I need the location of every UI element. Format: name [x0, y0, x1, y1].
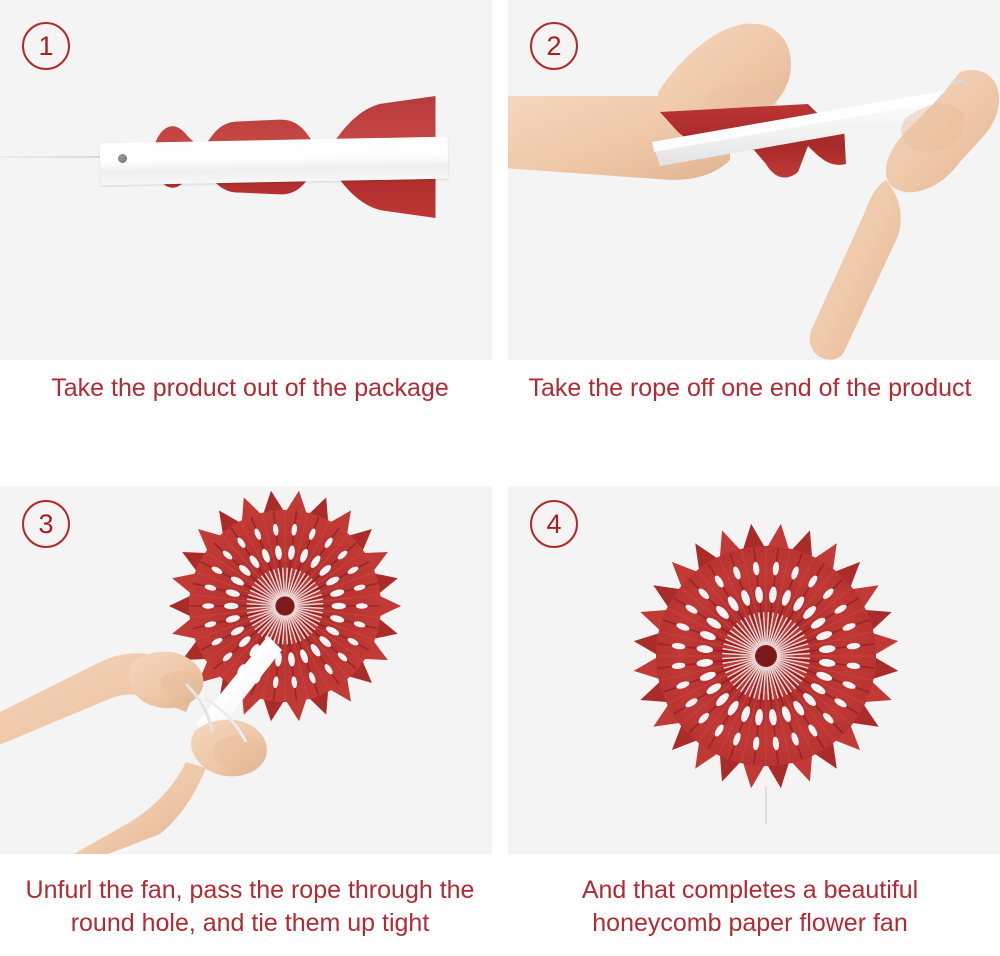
step-3-photo: [0, 486, 492, 854]
caption-line: round hole, and tie them up tight: [14, 907, 486, 940]
step-caption-4: And that completes a beautiful honeycomb…: [500, 874, 1000, 940]
step-caption-1: Take the product out of the package: [0, 372, 500, 405]
step-panel-2: 2 Take the rope off one end of the produ…: [500, 0, 1000, 478]
hands-removing-rope-illustration: [508, 0, 1000, 360]
step-4-photo: [508, 486, 1000, 854]
instruction-grid: 1 Take the product out of the package: [0, 0, 1000, 956]
caption-line: Unfurl the fan, pass the rope through th…: [14, 874, 486, 907]
step-caption-3: Unfurl the fan, pass the rope through th…: [0, 874, 500, 940]
caption-line: Take the product out of the package: [14, 372, 486, 405]
caption-line: honeycomb paper flower fan: [514, 907, 986, 940]
step-panel-1: 1 Take the product out of the package: [0, 0, 500, 478]
right-forearm: [74, 762, 206, 854]
caption-line: Take the rope off one end of the product: [514, 372, 986, 405]
step-panel-4: 4 And that completes a beautiful honeyco…: [500, 478, 1000, 956]
step-panel-3: 3 Unfurl the fan, pass the rope through …: [0, 478, 500, 956]
rope-hole: [118, 154, 127, 163]
finished-fan-illustration: [508, 486, 1000, 854]
step-number-badge-1: 1: [22, 22, 70, 70]
white-paper-band: [100, 137, 449, 186]
step-1-photo: [0, 0, 492, 360]
rope: [0, 156, 108, 158]
step-number-badge-3: 3: [22, 500, 70, 548]
completed-fan: [634, 524, 899, 789]
caption-line: And that completes a beautiful: [514, 874, 986, 907]
right-forearm: [810, 180, 901, 360]
step-caption-2: Take the rope off one end of the product: [500, 372, 1000, 405]
step-number-badge-4: 4: [530, 500, 578, 548]
hands-tying-fan-illustration: [0, 486, 492, 854]
folded-strip-illustration: [0, 0, 492, 360]
opened-fan: [169, 491, 401, 722]
step-number-badge-2: 2: [530, 22, 578, 70]
step-2-photo: [508, 0, 1000, 360]
